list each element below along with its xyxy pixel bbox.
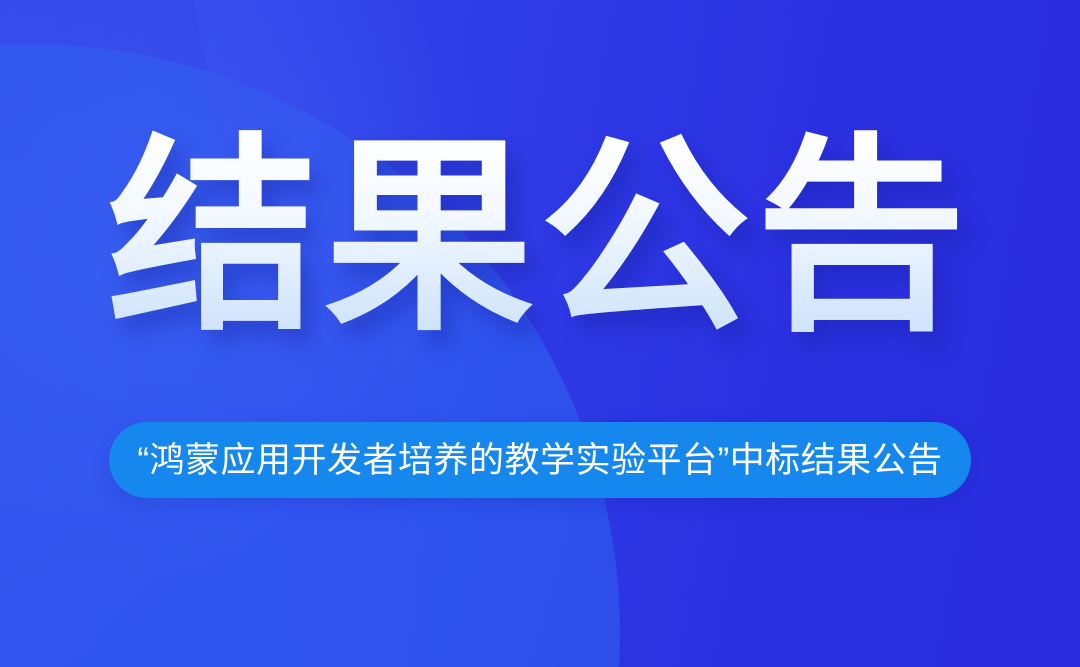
- subtitle-container: “鸿蒙应用开发者培养的教学实验平台”中标结果公告: [0, 422, 1080, 498]
- announcement-poster: 结果公告 “鸿蒙应用开发者培养的教学实验平台”中标结果公告: [0, 0, 1080, 667]
- subtitle-pill: “鸿蒙应用开发者培养的教学实验平台”中标结果公告: [109, 422, 970, 498]
- subtitle-text: “鸿蒙应用开发者培养的教学实验平台”中标结果公告: [137, 443, 942, 478]
- poster-content: 结果公告 “鸿蒙应用开发者培养的教学实验平台”中标结果公告: [0, 0, 1080, 667]
- page-title: 结果公告: [0, 128, 1080, 349]
